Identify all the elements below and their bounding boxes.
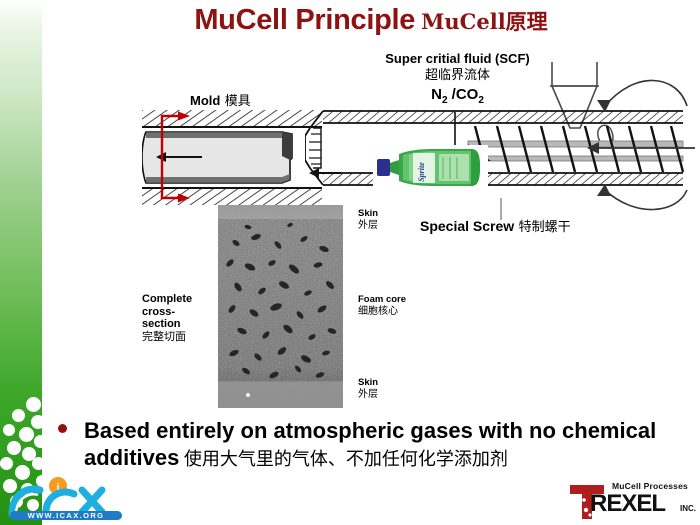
injection-unit-diagram — [305, 48, 700, 213]
skin-top-chinese: 外层 — [358, 220, 378, 232]
mold-label-chinese: 模具 — [225, 94, 251, 109]
skin-bottom-chinese: 外层 — [358, 389, 378, 401]
bottle-brand-text: Sprite — [417, 162, 426, 182]
skin-top-label: Skin 外层 — [358, 209, 378, 231]
bottle-product-image: Sprite — [373, 145, 488, 190]
icax-logo[interactable]: i WWW.ICAX.ORG — [2, 470, 134, 523]
cross-section-english: Complete cross-section — [142, 293, 212, 331]
bullet-dot-icon — [58, 424, 67, 433]
screw-leader-line — [498, 198, 504, 220]
slide-canvas: MuCell PrincipleMuCell原理 Super critial f… — [0, 0, 700, 525]
cross-section-chinese: 完整切面 — [142, 331, 212, 344]
foam-core-chinese: 细胞核心 — [358, 306, 406, 318]
bullet-point: Based entirely on atmospheric gases with… — [58, 418, 683, 472]
skin-bottom-english: Skin — [358, 378, 378, 389]
title-chinese: MuCell原理 — [421, 9, 548, 34]
cross-section-label: Complete cross-section 完整切面 — [142, 293, 212, 344]
special-screw-english: Special Screw — [420, 218, 514, 234]
mold-label-english: Mold — [190, 93, 220, 108]
title-english: MuCell Principle — [194, 4, 415, 36]
slide-title: MuCell PrincipleMuCell原理 — [42, 4, 700, 37]
skin-top-english: Skin — [358, 209, 378, 220]
trexel-suffix: INC. — [680, 504, 696, 513]
foam-micrograph — [218, 205, 343, 408]
special-screw-chinese: 特制螺干 — [519, 220, 571, 235]
trexel-logo[interactable]: MuCell Processes REXEL INC. — [570, 481, 698, 521]
icax-url-text: WWW.ICAX.ORG — [28, 511, 105, 520]
foam-core-english: Foam core — [358, 295, 406, 306]
skin-bottom-label: Skin 外层 — [358, 378, 378, 400]
foam-core-label: Foam core 细胞核心 — [358, 295, 406, 317]
mold-label: Mold 模具 — [190, 92, 251, 110]
trexel-brand: REXEL — [590, 490, 665, 518]
mold-diagram — [142, 110, 322, 205]
special-screw-label: Special Screw 特制螺干 — [420, 218, 571, 236]
bullet-chinese: 使用大气里的气体、不加任何化学添加剂 — [184, 449, 508, 470]
